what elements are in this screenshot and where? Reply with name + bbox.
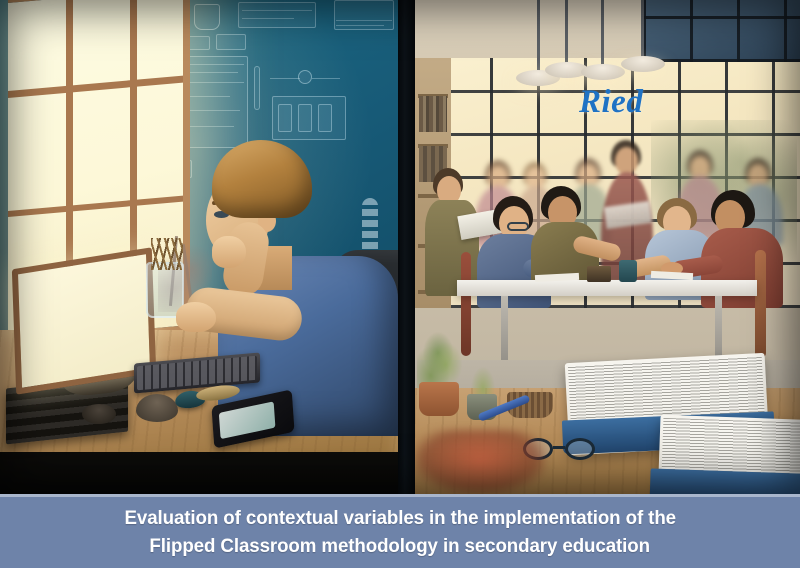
- clerestory-windows: [643, 0, 800, 62]
- panel-classroom: [415, 0, 800, 494]
- pendant-lamp-icon: [581, 64, 625, 80]
- classroom-table: [457, 280, 757, 296]
- tabletop-box: [587, 266, 611, 282]
- pipette-sketch-icon: [254, 66, 260, 110]
- tabletop-cup: [619, 260, 637, 282]
- open-book: [658, 415, 800, 494]
- sketch-line: [242, 18, 294, 19]
- desk-trinket: [136, 394, 178, 422]
- panel-sketch-icon: [272, 96, 346, 140]
- bookcase-books: [419, 96, 447, 132]
- foreground-blur-object: [415, 430, 545, 494]
- panel-cell: [318, 104, 332, 132]
- sketch-line: [336, 20, 392, 21]
- pendant-lamp-icon: [621, 56, 665, 72]
- panel-cell: [278, 104, 292, 132]
- sketch-line: [190, 64, 244, 65]
- lamp-rod: [601, 0, 604, 68]
- figure-container: Ried Evaluation of contextual variables …: [0, 0, 800, 568]
- panel-cell: [298, 104, 312, 132]
- terracotta-pot: [419, 382, 459, 416]
- lamp-rod: [565, 0, 568, 66]
- caption-bar: Evaluation of contextual variables in th…: [0, 494, 800, 568]
- ried-logo: Ried: [579, 86, 643, 119]
- component-sketch-icon: [216, 34, 246, 50]
- sketch-line: [190, 96, 230, 97]
- desk-front-edge: [0, 452, 398, 494]
- sketch-line: [190, 82, 244, 83]
- student-typing-hand: [176, 302, 216, 332]
- circuit-sketch-icon: [238, 2, 316, 28]
- eyeglasses-icon: [507, 222, 529, 231]
- panel-individual-study: [0, 0, 398, 494]
- sketch-line: [312, 78, 340, 79]
- beaker-sketch-icon: [194, 4, 220, 30]
- desk-puck: [82, 404, 116, 424]
- sketch-line: [336, 25, 384, 26]
- caption-line-1: Evaluation of contextual variables in th…: [124, 505, 675, 533]
- chair-back: [755, 250, 766, 358]
- window-mullion: [8, 76, 183, 98]
- plant-leaves: [417, 326, 463, 388]
- sketch-line: [190, 72, 238, 73]
- schematic-sketch-icon: [186, 56, 248, 148]
- sketch-line: [242, 10, 312, 11]
- sketch-line: [270, 78, 300, 79]
- component-sketch-icon: [188, 36, 210, 50]
- plant-leaves: [465, 356, 501, 398]
- sketch-line: [190, 110, 240, 111]
- caption-line-2: Flipped Classroom methodology in seconda…: [150, 533, 651, 561]
- lamp-rod: [537, 0, 540, 74]
- sketch-line: [190, 126, 234, 127]
- panel-divider: [398, 0, 415, 494]
- illustration-band: Ried: [0, 0, 800, 494]
- chart-sketch-icon: [334, 0, 394, 30]
- lamp-rod: [641, 0, 644, 60]
- eyeglass-bridge: [553, 446, 565, 449]
- eyeglass-lens: [565, 438, 595, 460]
- student-hand-on-chin: [212, 236, 246, 268]
- window-mullion: [8, 196, 183, 217]
- node-sketch-icon: [298, 70, 312, 84]
